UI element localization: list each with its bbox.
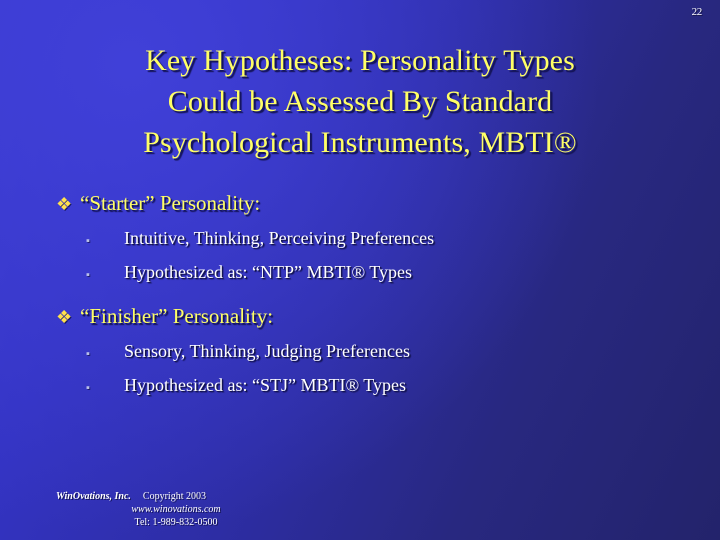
sub-bullet-label: Hypothesized as: “STJ” MBTI® Types [124, 368, 406, 402]
sub-bullet-label: Intuitive, Thinking, Perceiving Preferen… [124, 221, 434, 255]
footer-copyright: Copyright 2003 [143, 491, 206, 502]
footer-website: www.winovations.com [56, 503, 296, 516]
bullet-item-finisher: ❖ “Finisher” Personality: [56, 301, 666, 332]
square-bullet-icon: ▪ [86, 337, 124, 371]
page-number: 22 [692, 6, 702, 19]
bullet-item-finisher-label: “Finisher” Personality: [80, 301, 273, 331]
title-line-3: Psychological Instruments, MBTI® [48, 122, 672, 163]
title-line-1: Key Hypotheses: Personality Types [48, 40, 672, 81]
square-bullet-icon: ▪ [86, 371, 124, 405]
sub-bullet-item: ▪ Hypothesized as: “STJ” MBTI® Types [56, 368, 666, 402]
sub-list-starter: ▪ Intuitive, Thinking, Perceiving Prefer… [56, 221, 666, 289]
sub-list-finisher: ▪ Sensory, Thinking, Judging Preferences… [56, 334, 666, 402]
square-bullet-icon: ▪ [86, 224, 124, 258]
square-bullet-icon: ▪ [86, 258, 124, 292]
bullet-item-starter-label: “Starter” Personality: [80, 188, 260, 218]
sub-bullet-item: ▪ Intuitive, Thinking, Perceiving Prefer… [56, 221, 666, 255]
diamond-bullet-icon: ❖ [56, 189, 80, 219]
footer-credit-line: WinOvations, Inc.Copyright 2003 [56, 490, 296, 503]
sub-bullet-label: Hypothesized as: “NTP” MBTI® Types [124, 255, 412, 289]
sub-bullet-item: ▪ Hypothesized as: “NTP” MBTI® Types [56, 255, 666, 289]
title-line-2: Could be Assessed By Standard [48, 81, 672, 122]
slide-footer: WinOvations, Inc.Copyright 2003 www.wino… [56, 490, 296, 529]
diamond-bullet-icon: ❖ [56, 302, 80, 332]
bullet-item-starter: ❖ “Starter” Personality: [56, 188, 666, 219]
sub-bullet-label: Sensory, Thinking, Judging Preferences [124, 334, 410, 368]
slide-title: Key Hypotheses: Personality Types Could … [48, 40, 672, 163]
footer-company-name: WinOvations, Inc. [56, 491, 131, 502]
sub-bullet-item: ▪ Sensory, Thinking, Judging Preferences [56, 334, 666, 368]
slide-body: ❖ “Starter” Personality: ▪ Intuitive, Th… [56, 188, 666, 414]
footer-telephone: Tel: 1-989-832-0500 [56, 516, 296, 529]
slide-canvas: 22 Key Hypotheses: Personality Types Cou… [0, 0, 720, 540]
